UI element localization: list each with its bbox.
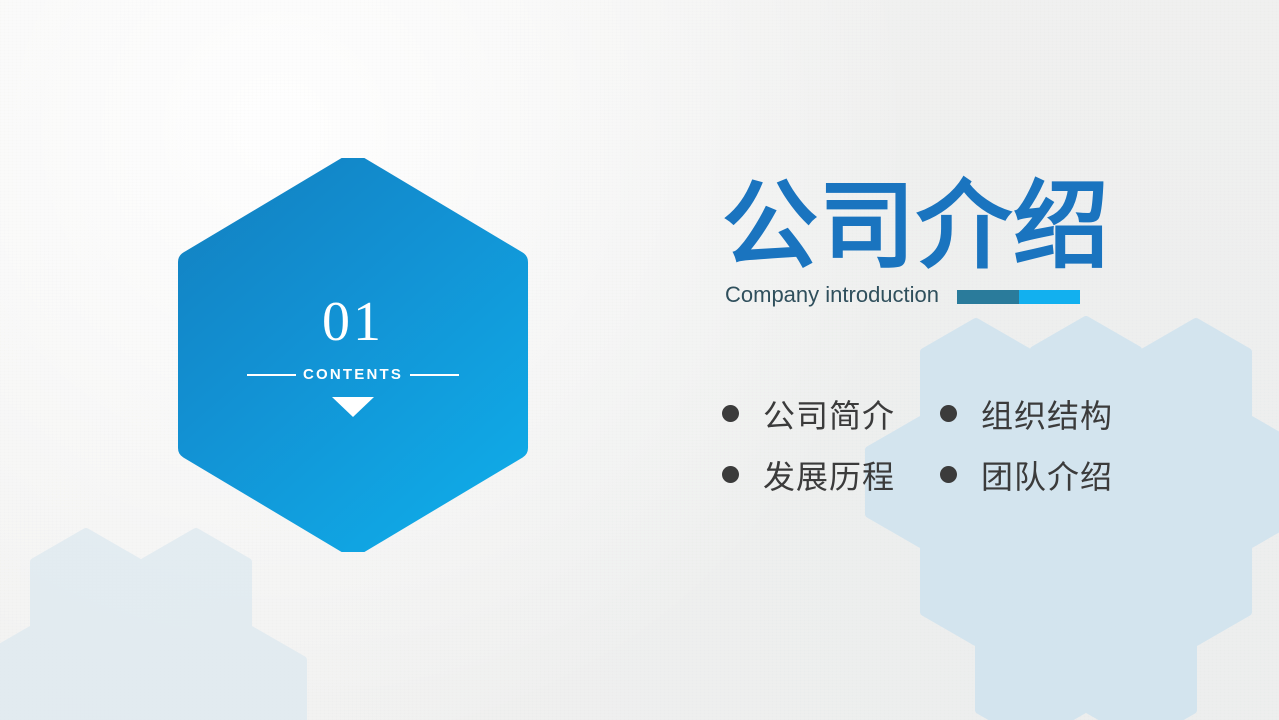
list-item[interactable]: 公司简介: [722, 391, 940, 437]
list-item-label: 发展历程: [763, 452, 895, 498]
hexagon-cluster-bottom-left: [0, 532, 303, 720]
section-number: 01: [322, 294, 384, 350]
section-number-hexagon: 01 CONTENTS: [177, 158, 529, 552]
header-block: 公司介绍 Company introduction: [722, 178, 1242, 308]
list-item-label: 公司简介: [763, 391, 895, 437]
contents-list: 公司简介 组织结构 发展历程 团队介绍: [722, 383, 1182, 505]
accent-bar: [957, 290, 1080, 304]
bullet-dot-icon: [722, 405, 739, 422]
contents-rule-left: [247, 374, 296, 376]
bullet-dot-icon: [940, 405, 957, 422]
accent-bar-right-segment: [1019, 290, 1080, 304]
slide-canvas: 01 CONTENTS 公司介绍 Company introduction 公司…: [0, 0, 1279, 720]
subtitle-row: Company introduction: [725, 282, 1242, 308]
list-item-label: 团队介绍: [981, 452, 1113, 498]
list-item[interactable]: 团队介绍: [940, 452, 1158, 498]
contents-rule-right: [410, 374, 459, 376]
page-subtitle: Company introduction: [725, 282, 939, 308]
page-title: 公司介绍: [722, 178, 1242, 276]
contents-label: CONTENTS: [296, 366, 410, 383]
list-item-label: 组织结构: [981, 391, 1113, 437]
list-item[interactable]: 组织结构: [940, 391, 1158, 437]
triangle-down-icon: [332, 397, 374, 417]
bullet-dot-icon: [722, 466, 739, 483]
hexagon-cluster-right: [869, 320, 1279, 720]
accent-bar-left-segment: [957, 290, 1019, 304]
bullet-dot-icon: [940, 466, 957, 483]
list-item[interactable]: 发展历程: [722, 452, 940, 498]
contents-label-row: CONTENTS: [247, 366, 459, 383]
